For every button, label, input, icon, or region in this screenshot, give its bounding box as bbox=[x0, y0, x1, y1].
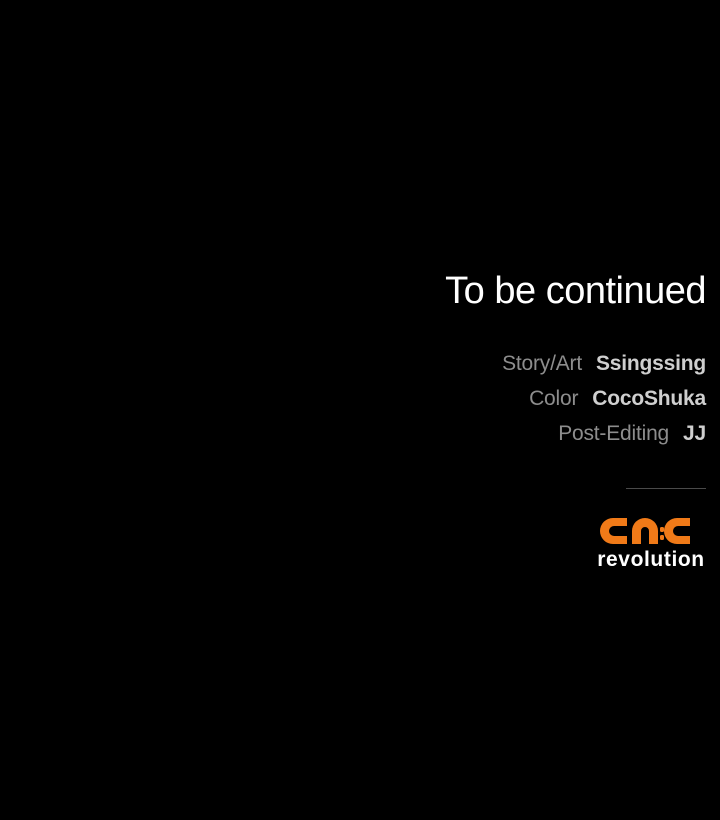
endcard-content: To be continued Story/Art Ssingssing Col… bbox=[146, 272, 706, 571]
page-title: To be continued bbox=[146, 272, 706, 310]
credit-row: Story/Art Ssingssing bbox=[146, 352, 706, 387]
credit-label-post-editing: Post-Editing bbox=[558, 422, 669, 446]
credit-value-post-editing: JJ bbox=[683, 422, 706, 446]
credit-value-color: CocoShuka bbox=[592, 387, 706, 411]
logo-wordmark: revolution bbox=[596, 549, 706, 571]
horizontal-divider bbox=[626, 488, 706, 489]
credit-value-story-art: Ssingssing bbox=[596, 352, 706, 376]
credit-row: Post-Editing JJ bbox=[146, 422, 706, 457]
logo-container: revolution bbox=[146, 511, 706, 571]
credit-row: Color CocoShuka bbox=[146, 387, 706, 422]
credit-label-story-art: Story/Art bbox=[502, 352, 582, 376]
credit-label-color: Color bbox=[529, 387, 578, 411]
endcard-page: To be continued Story/Art Ssingssing Col… bbox=[0, 0, 720, 820]
cnc-revolution-logo: revolution bbox=[596, 511, 706, 571]
cnc-logo-mark-icon bbox=[596, 511, 706, 548]
divider-container bbox=[146, 488, 706, 489]
credits-list: Story/Art Ssingssing Color CocoShuka Pos… bbox=[146, 352, 706, 457]
